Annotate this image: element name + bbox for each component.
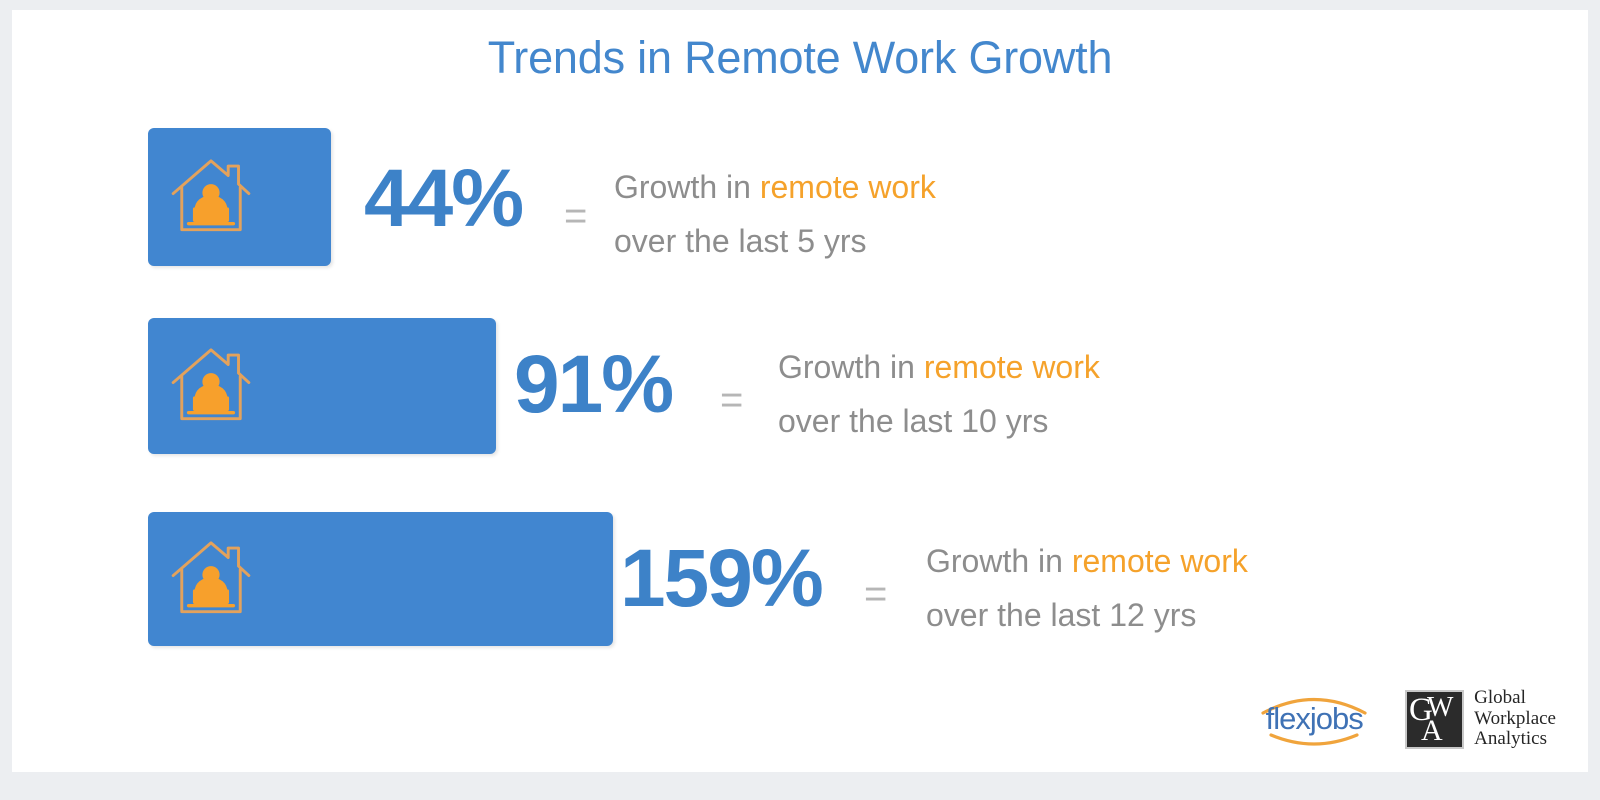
equals-sign-0: =	[564, 196, 587, 236]
stat-value-2: 159%	[620, 538, 822, 620]
bar-2	[148, 512, 613, 646]
gwa-line1: Global	[1474, 688, 1556, 709]
stat-description-line1: Growth in remote work	[614, 160, 936, 214]
stat-description-1: Growth in remote work over the last 10 y…	[778, 340, 1100, 449]
svg-text:A: A	[1421, 714, 1443, 743]
page-title: Trends in Remote Work Growth	[12, 32, 1588, 84]
desc-prefix: Growth in	[926, 543, 1072, 579]
stat-description-0: Growth in remote work over the last 5 yr…	[614, 160, 936, 269]
desc-highlight: remote work	[924, 349, 1100, 385]
stat-description-line2: over the last 10 yrs	[778, 394, 1100, 448]
gwa-monogram-glyphs: G W A	[1407, 692, 1458, 743]
stat-description-line1: Growth in remote work	[778, 340, 1100, 394]
stat-description-line2: over the last 12 yrs	[926, 588, 1248, 642]
footer-logos: flexjobs G W A Global Workplace Analytic…	[1249, 688, 1556, 750]
house-remote-worker-icon	[168, 343, 254, 429]
desc-highlight: remote work	[760, 169, 936, 205]
stat-description-line2: over the last 5 yrs	[614, 214, 936, 268]
infographic-card: Trends in Remote Work Growth 44% = Growt…	[12, 10, 1588, 772]
stat-description-line1: Growth in remote work	[926, 534, 1248, 588]
gwa-wordmark: Global Workplace Analytics	[1474, 688, 1556, 750]
bar-1	[148, 318, 496, 454]
gwa-monogram-icon: G W A	[1405, 690, 1464, 749]
stat-description-2: Growth in remote work over the last 12 y…	[926, 534, 1248, 643]
house-remote-worker-icon	[168, 536, 254, 622]
gwa-logo: G W A Global Workplace Analytics	[1405, 688, 1556, 750]
flexjobs-logo: flexjobs	[1249, 691, 1379, 747]
equals-sign-2: =	[864, 574, 887, 614]
stat-value-1: 91%	[514, 344, 672, 426]
stat-value-0: 44%	[364, 158, 522, 240]
flexjobs-wordmark: flexjobs	[1249, 703, 1379, 734]
desc-highlight: remote work	[1072, 543, 1248, 579]
equals-sign-1: =	[720, 380, 743, 420]
house-remote-worker-icon	[168, 154, 254, 240]
gwa-line3: Analytics	[1474, 729, 1556, 750]
desc-prefix: Growth in	[614, 169, 760, 205]
gwa-line2: Workplace	[1474, 709, 1556, 730]
desc-prefix: Growth in	[778, 349, 924, 385]
bar-0	[148, 128, 331, 266]
